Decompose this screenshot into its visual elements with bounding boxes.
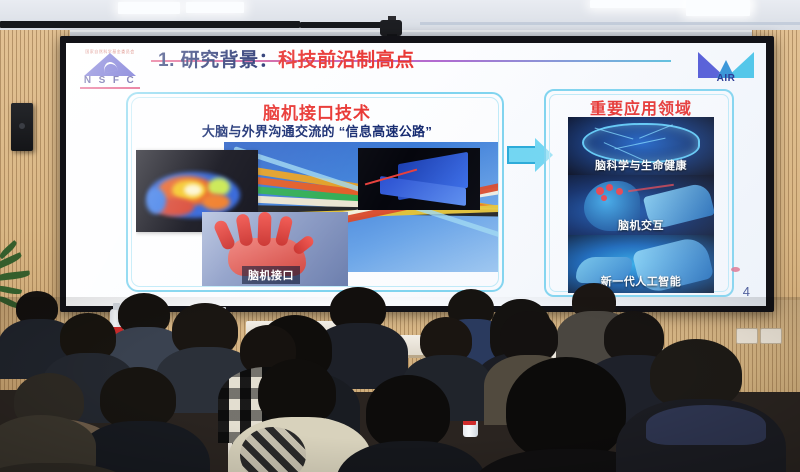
left-panel-subtitle: 大脑与外界沟通交流的 “信息高速公路” bbox=[128, 121, 506, 140]
ceiling-light bbox=[686, 0, 750, 16]
image-caption: 脑机接口 bbox=[242, 266, 300, 284]
title-prefix: 1. 研究背景： bbox=[158, 50, 278, 71]
lecture-hall-photo: 国家自然科学基金委员会 N S F C 1. 研究背景：科技前沿制高点 AIR bbox=[0, 0, 800, 472]
left-panel: 脑机接口技术 大脑与外界沟通交流的 “信息高速公路” bbox=[126, 92, 504, 292]
projection-screen-frame: 国家自然科学基金委员会 N S F C 1. 研究背景：科技前沿制高点 AIR bbox=[60, 36, 774, 312]
page-title: 1. 研究背景：科技前沿制高点 bbox=[158, 45, 415, 72]
title-highlight: 科技前沿制高点 bbox=[278, 50, 415, 71]
air-logo-icon: AIR bbox=[698, 46, 754, 86]
robotic-hand-image: 脑机接口 bbox=[202, 212, 348, 286]
application-caption: 脑科学与生命健康 bbox=[568, 157, 714, 173]
right-panel: 重要应用领域 脑科学与生命健康 bbox=[544, 89, 734, 297]
application-item: 脑科学与生命健康 bbox=[568, 117, 714, 175]
speaker-icon bbox=[11, 103, 33, 151]
nsfc-logo-icon: 国家自然科学基金委员会 N S F C bbox=[76, 48, 144, 88]
ceiling-rail bbox=[0, 21, 300, 28]
right-panel-title: 重要应用领域 bbox=[546, 95, 736, 119]
nsfc-underline bbox=[80, 87, 140, 89]
air-acronym: AIR bbox=[698, 73, 754, 84]
left-panel-collage: 脑机接口 bbox=[136, 142, 498, 288]
presentation-slide[interactable]: 国家自然科学基金委员会 N S F C 1. 研究背景：科技前沿制高点 AIR bbox=[66, 43, 766, 306]
application-item: 脑机交互 bbox=[568, 175, 714, 235]
ceiling-seam bbox=[420, 22, 800, 25]
slide-header: 国家自然科学基金委员会 N S F C 1. 研究背景：科技前沿制高点 AIR bbox=[66, 43, 766, 89]
ceiling-light bbox=[118, 2, 180, 14]
audience bbox=[0, 297, 800, 472]
slide-marker-dot bbox=[731, 267, 740, 272]
right-panel-image-stack: 脑科学与生命健康 脑机交互 bbox=[568, 117, 714, 293]
ceiling-light bbox=[186, 2, 244, 13]
application-caption: 脑机交互 bbox=[568, 217, 714, 233]
nsfc-acronym: N S F C bbox=[76, 75, 144, 86]
laptop-device-image bbox=[358, 148, 480, 210]
